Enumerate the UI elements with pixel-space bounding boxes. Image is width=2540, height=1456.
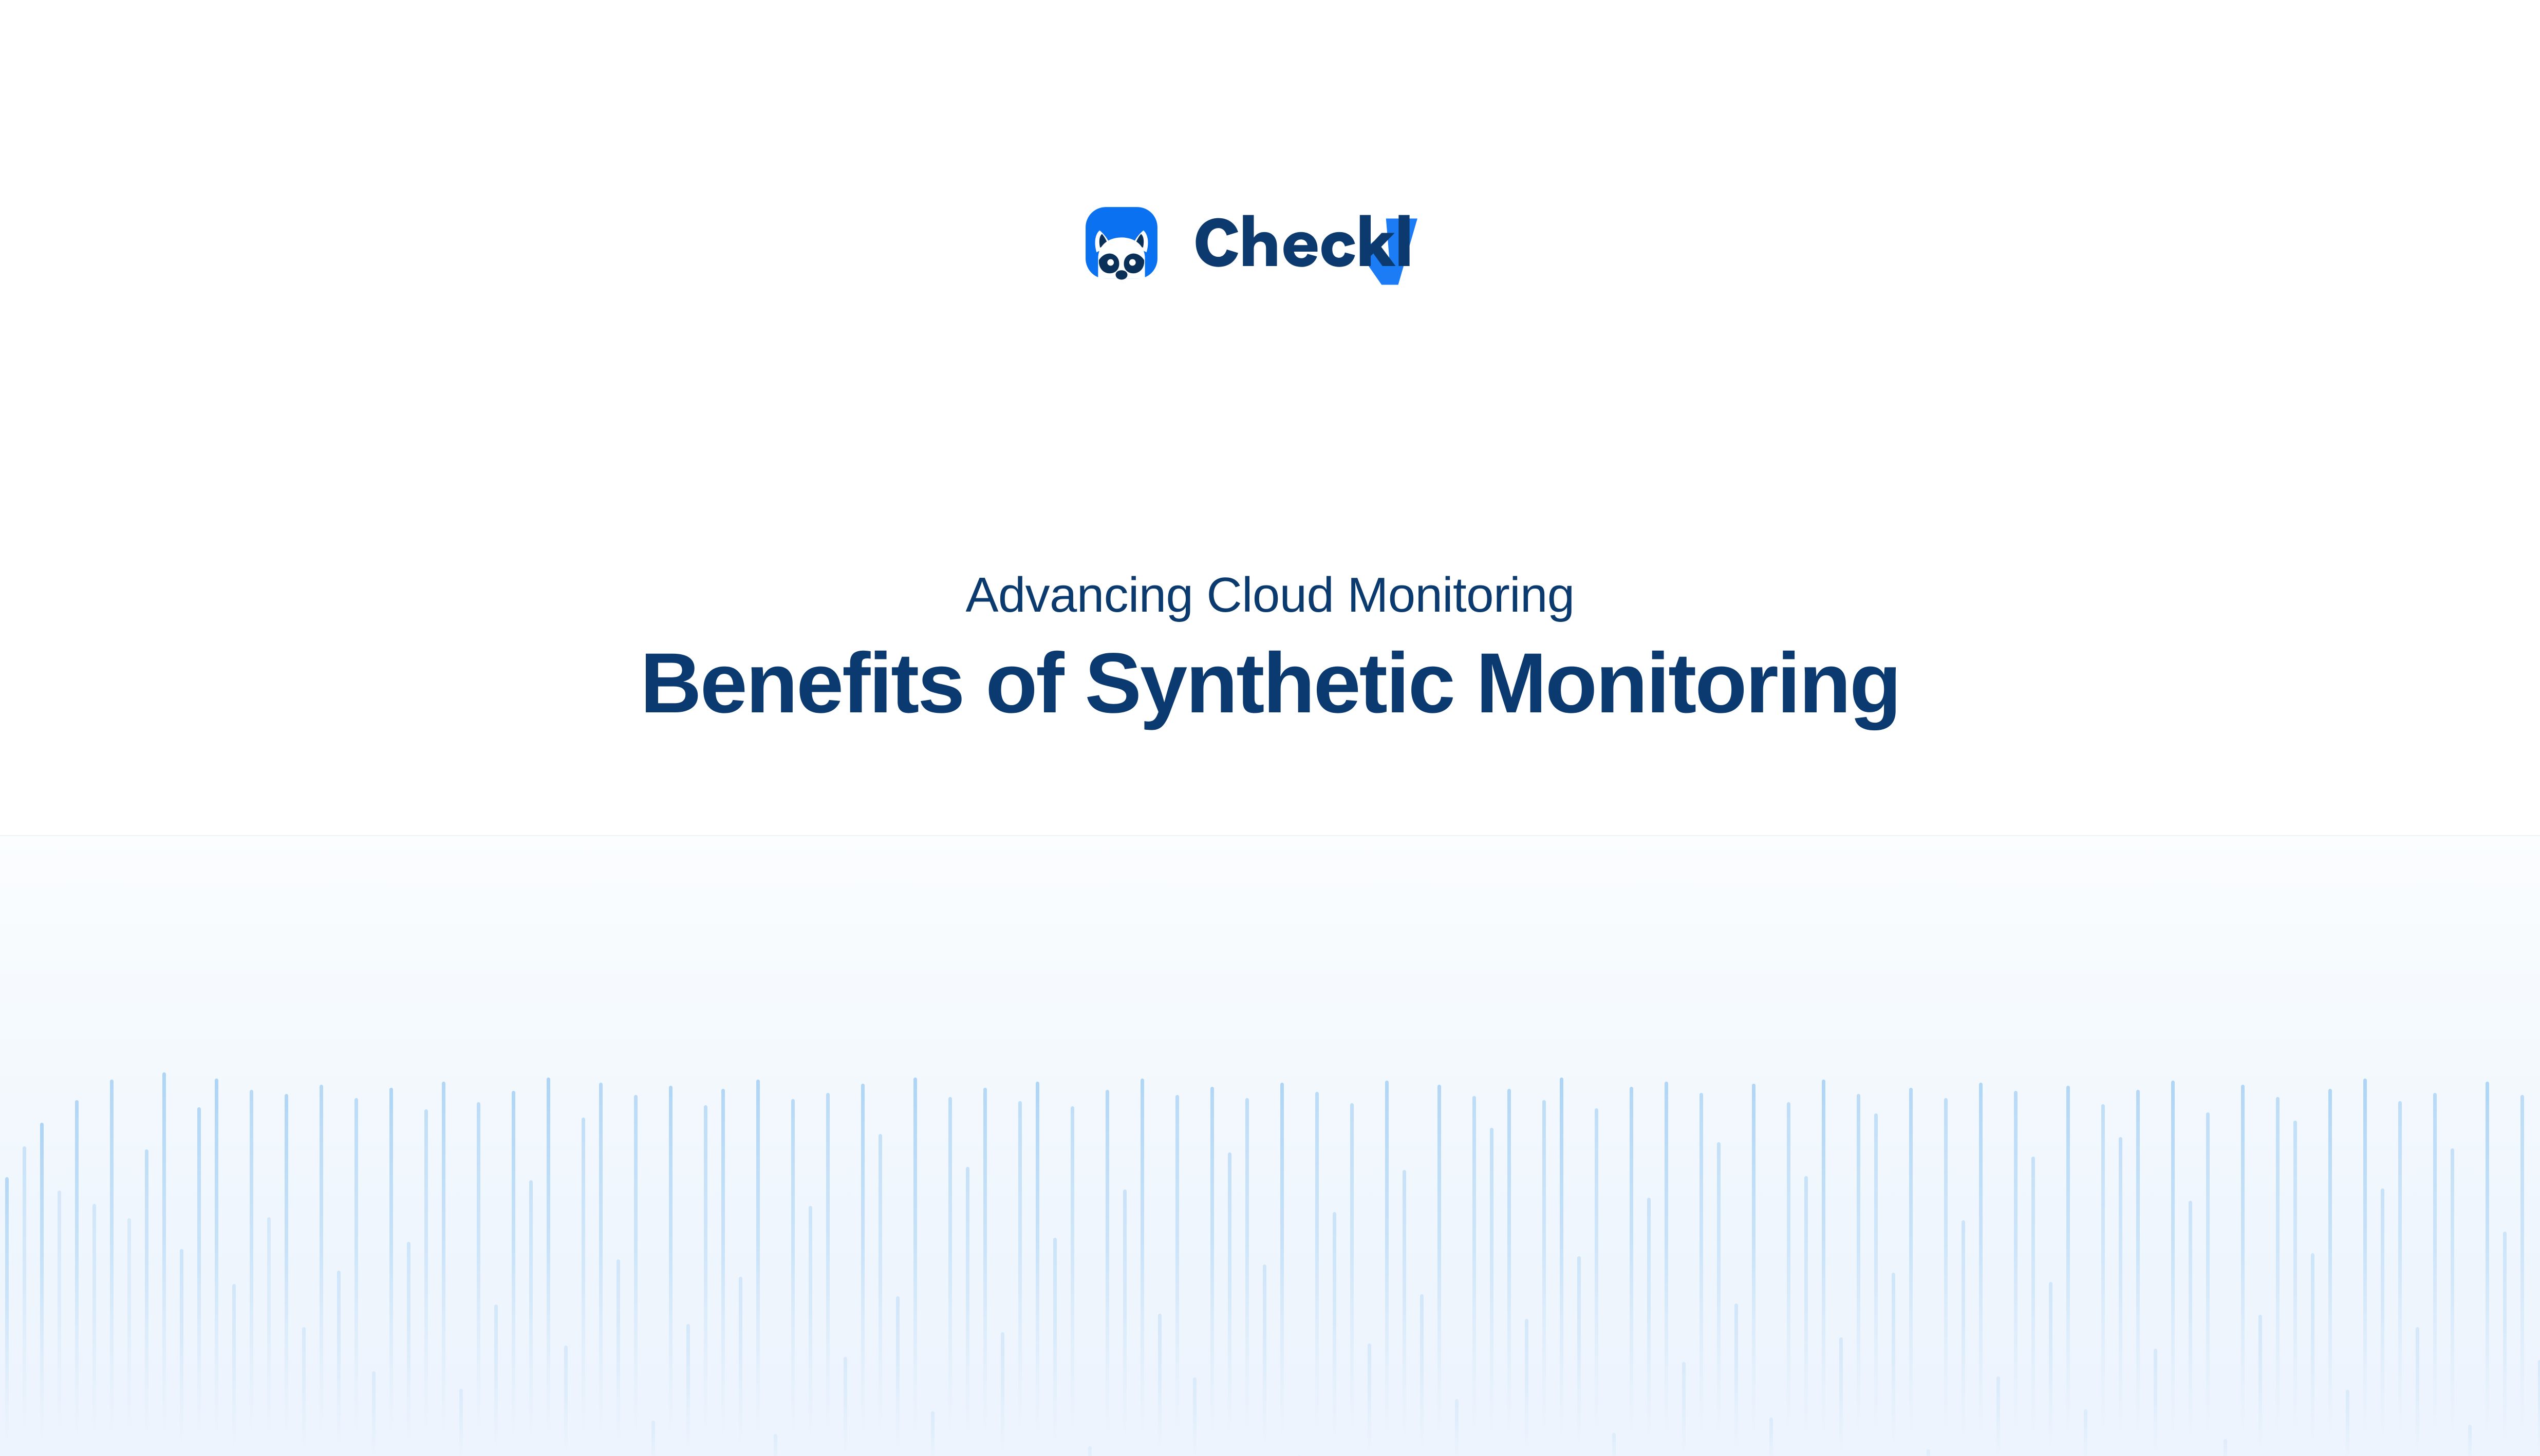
waveform-bar [547, 1077, 550, 1456]
waveform-bar [1892, 1273, 1895, 1456]
waveform-bar [913, 1077, 917, 1456]
waveform-bar [931, 1411, 935, 1456]
waveform-bar [442, 1082, 445, 1456]
waveform-bar [2154, 1349, 2157, 1456]
waveform-bar [582, 1118, 585, 1456]
waveform-bar [2346, 1390, 2349, 1456]
waveform-bar [1437, 1085, 1441, 1456]
waveform-bar [2171, 1081, 2175, 1456]
waveform-bar [58, 1190, 61, 1456]
waveform-bar [459, 1389, 463, 1456]
waveform-bar [477, 1102, 480, 1456]
waveform-bar [40, 1123, 44, 1456]
waveform-bar [756, 1080, 760, 1456]
waveform-bar [634, 1095, 638, 1456]
waveform-bar [127, 1218, 131, 1456]
waveform-bar [2224, 1439, 2227, 1456]
waveform-bar [320, 1085, 323, 1456]
checkly-raccoon-logo-icon [1082, 204, 1161, 282]
waveform-bar [1123, 1189, 1127, 1456]
waveform-bar [1577, 1256, 1581, 1456]
waveform-bar [2119, 1137, 2122, 1456]
waveform-bar [1560, 1077, 1563, 1456]
waveform-bar [1822, 1080, 1825, 1456]
waveform-bar [1403, 1170, 1406, 1456]
waveform-bar [250, 1090, 253, 1456]
waveform-bar [285, 1094, 288, 1456]
waveform-bar [1350, 1103, 1354, 1456]
waveform-bar [23, 1146, 26, 1456]
waveform-bar [1752, 1084, 1755, 1456]
waveform-bar [2433, 1093, 2437, 1456]
waveform-bar [844, 1357, 847, 1456]
waveform-bar [1368, 1344, 1371, 1456]
waveform-bar [1962, 1220, 1965, 1456]
waveform-bar [512, 1091, 515, 1456]
waveform-bar [599, 1083, 603, 1456]
waveform-bar [1333, 1212, 1336, 1456]
waveform-bar [2311, 1253, 2314, 1456]
waveform-bar [1595, 1108, 1598, 1456]
waveform-bar [197, 1107, 201, 1456]
waveform-bar [1036, 1082, 1039, 1456]
waveform-bar [407, 1242, 410, 1456]
waveform-bar [617, 1259, 620, 1456]
waveform-bar [1210, 1087, 1214, 1456]
waveform-bar [354, 1098, 358, 1456]
waveform-bar [1647, 1198, 1651, 1456]
waveform-bar [2503, 1232, 2507, 1456]
waveform-bar [739, 1277, 742, 1456]
waveform-bar [1507, 1089, 1511, 1456]
waveform-bar [1193, 1377, 1197, 1456]
waveform-bar [529, 1180, 533, 1456]
waveform-bar [145, 1149, 148, 1456]
waveform-bar [896, 1296, 900, 1456]
waveform-bar [564, 1346, 568, 1456]
waveform-bar [215, 1079, 218, 1456]
waveform-bar [1071, 1106, 1074, 1456]
waveform-bar [1734, 1303, 1738, 1456]
waveform-bar [2293, 1121, 2297, 1456]
waveform-bar [2136, 1090, 2140, 1456]
waveform-bar [704, 1105, 707, 1456]
waveform-bar [1909, 1088, 1913, 1456]
waveform-bar [2258, 1315, 2262, 1456]
waveform-bar [1175, 1095, 1179, 1456]
waveform-bar [1018, 1101, 1022, 1456]
waveform-bar [92, 1204, 96, 1456]
waveform-bar [337, 1271, 341, 1456]
brand-logo-lockup [0, 199, 2540, 287]
waveform-bar [2241, 1085, 2245, 1456]
waveform-bar [1280, 1083, 1284, 1456]
waveform-bar [1996, 1376, 2000, 1456]
waveform-bar [1857, 1094, 1860, 1456]
waveform-bar [267, 1217, 271, 1456]
waveform-bar [1385, 1081, 1389, 1456]
waveform-bar [2101, 1104, 2105, 1456]
waveform-bar [2206, 1112, 2210, 1456]
waveform-bar [2363, 1079, 2367, 1456]
waveform-bar [1263, 1264, 1266, 1456]
waveform-bar [1472, 1096, 1476, 1456]
waveform-bar [1141, 1079, 1144, 1456]
waveform-bar [1979, 1083, 1983, 1456]
waveform-bar [1804, 1176, 1808, 1456]
waveform-bar [162, 1072, 166, 1456]
waveform-bar [1682, 1362, 1686, 1456]
waveform-bar [1944, 1098, 1948, 1456]
waveform-bar [669, 1086, 673, 1456]
waveform-bar [774, 1434, 777, 1456]
waveform-bar [180, 1249, 183, 1456]
waveform-decoration [0, 1017, 2540, 1456]
waveform-bar [232, 1284, 236, 1456]
waveform-bar [791, 1099, 795, 1456]
waveform-bar [2014, 1091, 2018, 1456]
waveform-bar [1490, 1128, 1493, 1456]
waveform-bar [651, 1421, 655, 1456]
waveform-bar [1612, 1433, 1616, 1456]
background-seam-divider [0, 835, 2540, 836]
waveform-bar [2451, 1148, 2454, 1456]
headings-block: Advancing Cloud Monitoring Benefits of S… [0, 569, 2540, 728]
waveform-bar [1088, 1446, 1092, 1456]
waveform-bar [110, 1080, 114, 1456]
waveform-bar [2328, 1089, 2332, 1456]
waveform-bar [2084, 1409, 2087, 1456]
waveform-bar [1874, 1113, 1878, 1456]
waveform-bar [809, 1206, 812, 1456]
waveform-bar [2189, 1201, 2192, 1456]
waveform-bar [1769, 1417, 1773, 1456]
waveform-bar [2381, 1188, 2384, 1456]
waveform-bar [1315, 1092, 1319, 1456]
waveform-bar [389, 1088, 393, 1456]
waveform-bar [879, 1134, 882, 1456]
waveform-bar [494, 1304, 498, 1456]
waveform-bar [1787, 1102, 1790, 1456]
waveform-svg [0, 1017, 2540, 1456]
eyebrow-subtitle: Advancing Cloud Monitoring [0, 569, 2540, 621]
waveform-bar [1630, 1087, 1633, 1456]
waveform-bar [1001, 1332, 1004, 1456]
waveform-bar-group [5, 1072, 2540, 1456]
waveform-bar [2276, 1097, 2280, 1456]
waveform-bar [1228, 1152, 1231, 1456]
waveform-bar [983, 1088, 987, 1456]
waveform-bar [2398, 1101, 2402, 1456]
waveform-bar [1839, 1337, 1843, 1456]
waveform-bar [1717, 1142, 1721, 1456]
waveform-bar [1455, 1399, 1459, 1456]
waveform-bar [2031, 1157, 2035, 1456]
waveform-bar [1053, 1238, 1057, 1456]
waveform-bar [2066, 1086, 2070, 1456]
waveform-bar [721, 1089, 725, 1456]
waveform-bar [2049, 1282, 2052, 1456]
slide-canvas: Advancing Cloud Monitoring Benefits of S… [0, 0, 2540, 1456]
waveform-bar [948, 1097, 952, 1456]
waveform-bar [1106, 1090, 1109, 1456]
waveform-bar [1542, 1100, 1546, 1456]
waveform-bar [686, 1324, 690, 1456]
waveform-bar [966, 1167, 969, 1456]
waveform-bar [75, 1100, 79, 1456]
waveform-bar [1927, 1449, 1930, 1456]
waveform-bar [1158, 1314, 1162, 1456]
waveform-bar [2486, 1082, 2489, 1456]
waveform-bar [302, 1327, 306, 1456]
waveform-bar [5, 1177, 9, 1456]
waveform-bar [826, 1093, 830, 1456]
waveform-bar [424, 1109, 428, 1456]
waveform-bar [1665, 1082, 1668, 1456]
waveform-bar [1525, 1319, 1528, 1456]
waveform-bar [372, 1371, 376, 1456]
waveform-bar [2416, 1327, 2419, 1456]
waveform-bar [1699, 1093, 1703, 1456]
checkly-wordmark-icon [1180, 199, 1458, 287]
waveform-bar [861, 1084, 865, 1456]
waveform-bar [1420, 1294, 1424, 1456]
page-title: Benefits of Synthetic Monitoring [0, 639, 2540, 728]
waveform-bar [1245, 1098, 1249, 1456]
waveform-bar [2520, 1095, 2524, 1456]
waveform-bar [2538, 1360, 2540, 1456]
waveform-bar [2468, 1425, 2472, 1456]
